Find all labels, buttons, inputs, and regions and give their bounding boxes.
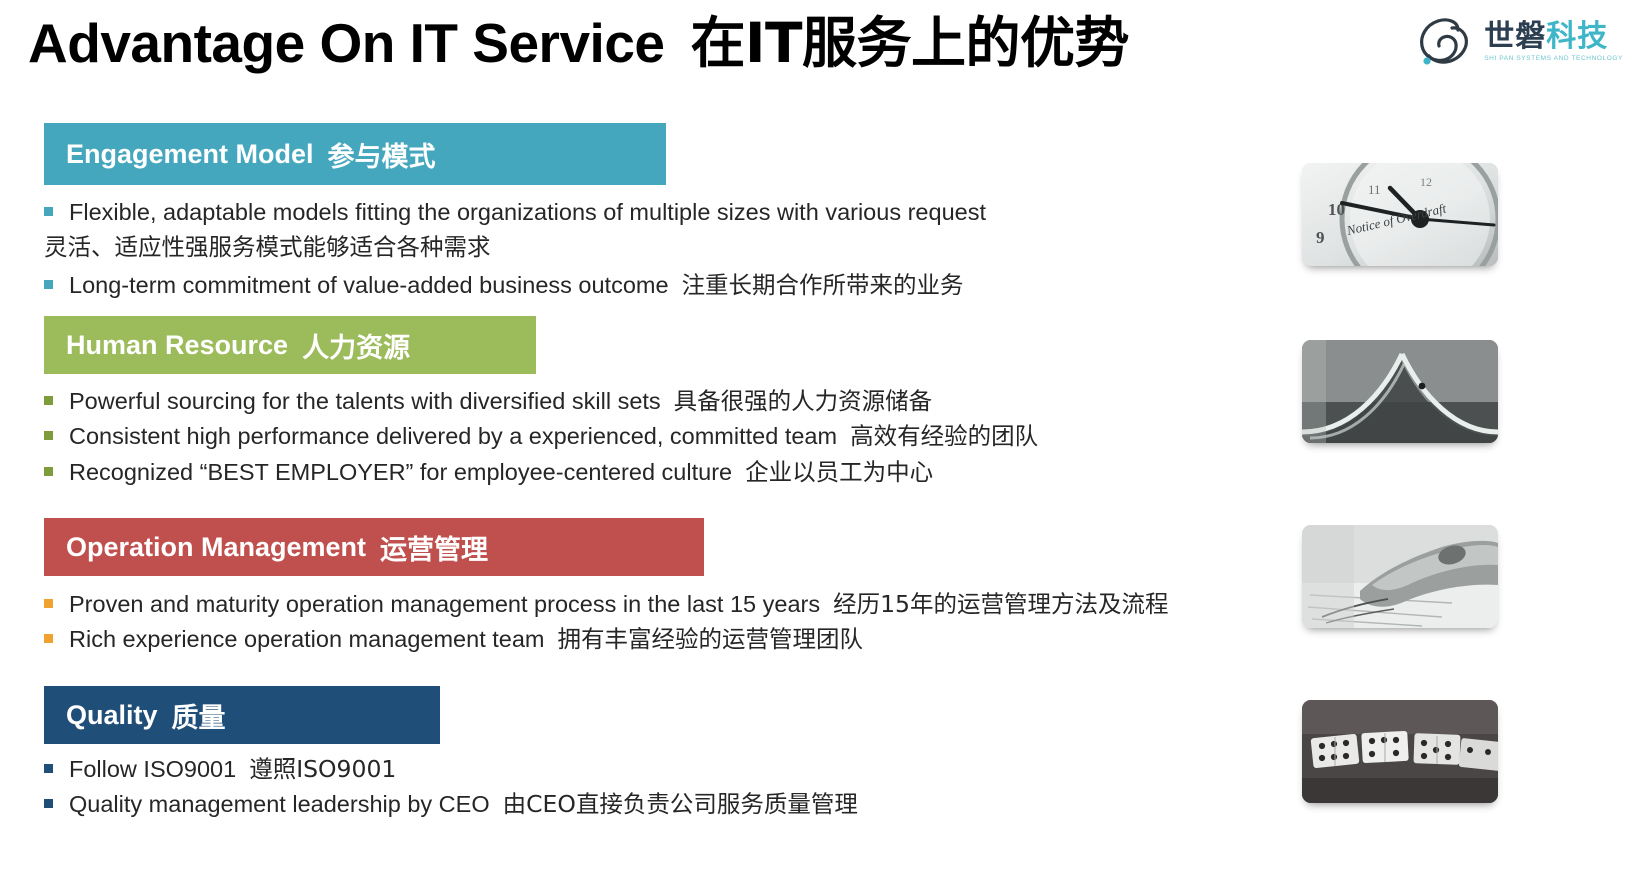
bullet-text-en: Long-term commitment of value-added busi…	[69, 272, 669, 298]
svg-text:9: 9	[1316, 228, 1325, 247]
chalkboard-curve-image	[1302, 340, 1498, 443]
list-item: Powerful sourcing for the talents with d…	[44, 385, 1038, 418]
logo-company-name: 世磐科技	[1484, 22, 1608, 52]
logo-name-part1: 世磐	[1484, 19, 1546, 54]
list-item: Recognized “BEST EMPLOYER” for employee-…	[44, 456, 1038, 489]
bullet-square-icon	[44, 431, 53, 440]
list-item: Flexible, adaptable models fitting the o…	[44, 196, 986, 229]
list-item: Rich experience operation management tea…	[44, 623, 1169, 656]
banner-label-en: Engagement Model	[66, 139, 314, 170]
bullet-text: Powerful sourcing for the talents with d…	[69, 385, 932, 418]
bullet-text: Proven and maturity operation management…	[69, 588, 1169, 621]
clock-face-image: 10 9 11 12 Notice of Overdraft	[1302, 163, 1498, 266]
banner-label-en: Quality	[66, 700, 158, 731]
banner-label-en: Operation Management	[66, 532, 366, 563]
bullet-text-cn: 由CEO直接负责公司服务质量管理	[503, 790, 858, 818]
bullet-text-en: Powerful sourcing for the talents with d…	[69, 388, 661, 414]
bullet-text-cn: 经历15年的运营管理方法及流程	[833, 590, 1168, 618]
bullet-text-cn: 具备很强的人力资源储备	[674, 387, 933, 415]
bullet-square-icon	[44, 634, 53, 643]
paperclip-swirl-logo-icon	[1414, 16, 1476, 68]
dominoes-photo	[1302, 700, 1498, 803]
hand-writing-image	[1302, 525, 1498, 628]
company-logo: 世磐科技 SHI PAN SYSTEMS AND TECHNOLOGY	[1414, 16, 1623, 68]
bullet-text-cn: 高效有经验的团队	[850, 422, 1038, 450]
section-banner-human-resource: Human Resource 人力资源	[44, 316, 536, 374]
logo-name-part2: 科技	[1546, 19, 1608, 54]
section-bullets-quality: Follow ISO9001遵照ISO9001 Quality manageme…	[44, 753, 858, 824]
bullet-text-cn: 注重长期合作所带来的业务	[682, 271, 964, 299]
banner-label-cn: 运营管理	[380, 528, 488, 567]
bullet-text-en: Recognized “BEST EMPLOYER” for employee-…	[69, 459, 732, 485]
bullet-continuation-line: 灵活、适应性强服务模式能够适合各种需求	[44, 231, 986, 264]
chalkboard-curve-photo	[1302, 340, 1498, 443]
clock-face-photo: 10 9 11 12 Notice of Overdraft	[1302, 163, 1498, 266]
bullet-text: Long-term commitment of value-added busi…	[69, 269, 964, 302]
page-title-cn: 在IT服务上的优势	[691, 11, 1129, 75]
bullet-square-icon	[44, 764, 53, 773]
bullet-text-en: Quality management leadership by CEO	[69, 791, 490, 817]
bullet-text: Quality management leadership by CEO由CEO…	[69, 788, 858, 821]
bullet-square-icon	[44, 207, 53, 216]
bullet-square-icon	[44, 396, 53, 405]
bullet-text-en: Proven and maturity operation management…	[69, 591, 820, 617]
slide-root: Advantage On IT Service在IT服务上的优势 世磐科技 SH…	[0, 0, 1641, 886]
bullet-text: Flexible, adaptable models fitting the o…	[69, 196, 986, 229]
bullet-square-icon	[44, 599, 53, 608]
bullet-text-cn: 拥有丰富经验的运营管理团队	[558, 625, 864, 653]
section-banner-operation-management: Operation Management 运营管理	[44, 518, 704, 576]
svg-text:12: 12	[1420, 175, 1432, 189]
bullet-text: Recognized “BEST EMPLOYER” for employee-…	[69, 456, 933, 489]
list-item: Follow ISO9001遵照ISO9001	[44, 753, 858, 786]
bullet-text: Follow ISO9001遵照ISO9001	[69, 753, 396, 786]
page-title: Advantage On IT Service在IT服务上的优势	[28, 12, 1129, 75]
bullet-text: Rich experience operation management tea…	[69, 623, 863, 656]
svg-text:11: 11	[1368, 182, 1381, 197]
bullet-text-cn: 企业以员工为中心	[745, 458, 933, 486]
banner-label-cn: 人力资源	[302, 326, 410, 365]
bullet-text-en: Rich experience operation management tea…	[69, 626, 545, 652]
banner-label-en: Human Resource	[66, 330, 288, 361]
logo-tagline: SHI PAN SYSTEMS AND TECHNOLOGY	[1484, 56, 1623, 62]
bullet-square-icon	[44, 280, 53, 289]
list-item: Long-term commitment of value-added busi…	[44, 269, 986, 302]
bullet-text-cn: 遵照ISO9001	[249, 755, 396, 783]
banner-label-cn: 参与模式	[328, 135, 436, 174]
section-bullets-engagement-model: Flexible, adaptable models fitting the o…	[44, 196, 986, 304]
bullet-square-icon	[44, 799, 53, 808]
section-bullets-operation-management: Proven and maturity operation management…	[44, 588, 1169, 659]
hand-writing-photo	[1302, 525, 1498, 628]
section-banner-engagement-model: Engagement Model 参与模式	[44, 123, 666, 185]
list-item: Quality management leadership by CEO由CEO…	[44, 788, 858, 821]
section-banner-quality: Quality 质量	[44, 686, 440, 744]
bullet-text: Consistent high performance delivered by…	[69, 420, 1038, 453]
section-bullets-human-resource: Powerful sourcing for the talents with d…	[44, 385, 1038, 491]
banner-label-cn: 质量	[172, 696, 226, 735]
bullet-text-en: Follow ISO9001	[69, 756, 236, 782]
list-item: Proven and maturity operation management…	[44, 588, 1169, 621]
bullet-text-en: Consistent high performance delivered by…	[69, 423, 837, 449]
bullet-square-icon	[44, 467, 53, 476]
list-item: Consistent high performance delivered by…	[44, 420, 1038, 453]
bullet-text-en: Flexible, adaptable models fitting the o…	[69, 199, 986, 225]
dominoes-image	[1302, 700, 1498, 803]
page-title-en: Advantage On IT Service	[28, 12, 665, 74]
